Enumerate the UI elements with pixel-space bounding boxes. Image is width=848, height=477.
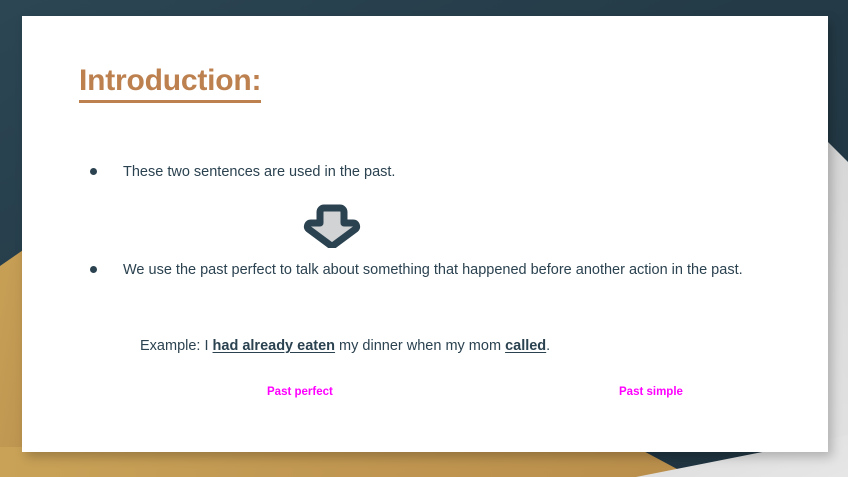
- example-middle: my dinner when my mom: [335, 338, 505, 354]
- annotation-past-perfect: Past perfect: [267, 386, 333, 398]
- example-highlight-past-simple: called: [505, 338, 546, 354]
- annotation-past-simple: Past simple: [619, 386, 683, 398]
- slide-content-card: Introduction: These two sentences are us…: [22, 16, 828, 452]
- page-title: Introduction:: [79, 64, 261, 103]
- bullet-dot-icon: [90, 168, 97, 175]
- down-arrow-icon: [303, 204, 361, 248]
- example-sentence: Example: I had already eaten my dinner w…: [140, 338, 550, 354]
- bullet-item-2-label: We use the past perfect to talk about so…: [123, 258, 763, 283]
- example-suffix: .: [546, 338, 550, 354]
- example-prefix: Example: I: [140, 338, 213, 354]
- bullet-dot-icon: [90, 266, 97, 273]
- slide-root: Introduction: These two sentences are us…: [0, 0, 848, 477]
- bullet-item-2: We use the past perfect to talk about so…: [90, 258, 763, 283]
- bullet-item-1: These two sentences are used in the past…: [90, 160, 395, 185]
- example-highlight-past-perfect: had already eaten: [213, 338, 336, 354]
- bullet-item-1-label: These two sentences are used in the past…: [123, 160, 395, 185]
